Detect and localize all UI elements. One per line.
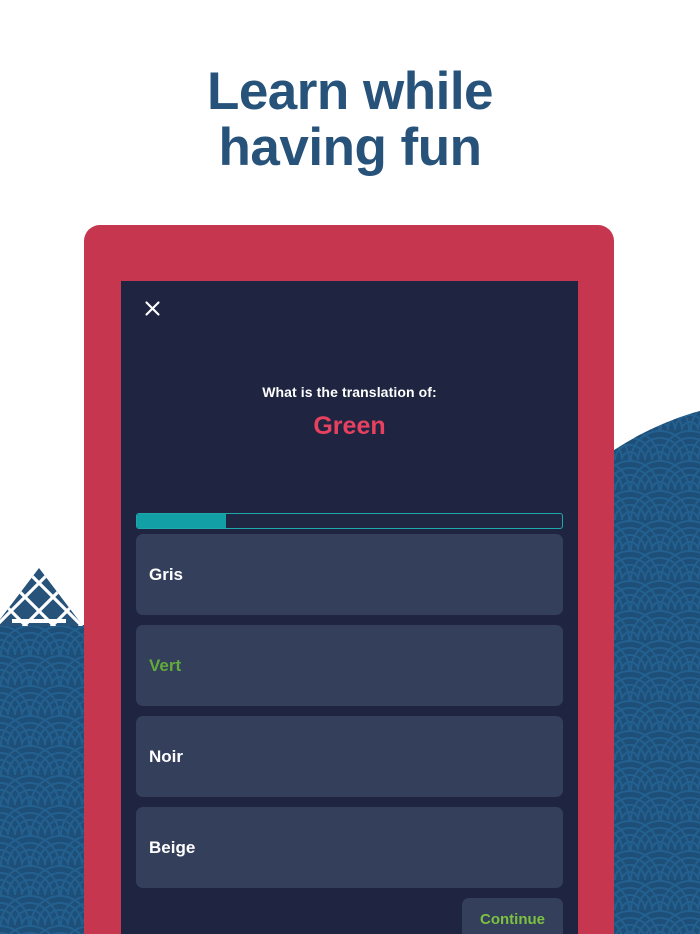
answer-option-1[interactable]: Gris [136,534,563,615]
progress-bar-fill [137,514,226,528]
wave-pattern-block-left [0,625,84,934]
question-label: What is the translation of: [121,384,578,400]
close-icon-glyph [145,301,160,316]
answer-option-label: Beige [149,838,195,858]
question-word: Green [121,412,578,441]
continue-row: Continue [136,898,563,934]
answer-option-label: Noir [149,747,183,767]
progress-bar [136,513,563,529]
answer-option-label: Vert [149,656,181,676]
headline-line-2: having fun [0,120,700,176]
answer-options-list: Gris Vert Noir Beige [136,534,563,898]
answer-option-label: Gris [149,565,183,585]
louvre-pyramid-icon [0,566,84,630]
answer-option-2[interactable]: Vert [136,625,563,706]
question-block: What is the translation of: Green [121,384,578,441]
continue-button[interactable]: Continue [462,898,563,934]
close-icon[interactable] [135,291,169,325]
app-screenshot: Learn while having fun What is the trans… [0,0,700,934]
answer-option-3[interactable]: Noir [136,716,563,797]
page-title: Learn while having fun [0,64,700,176]
phone-screen: What is the translation of: Green Gris V… [121,281,578,934]
answer-option-4[interactable]: Beige [136,807,563,888]
headline-line-1: Learn while [0,64,700,120]
